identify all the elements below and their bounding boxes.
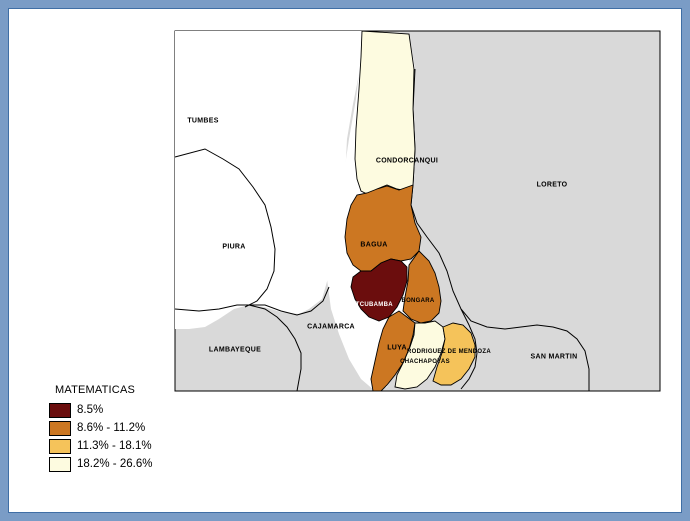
map-label-cajamarca: CAJAMARCA	[307, 324, 355, 331]
legend-item: 8.6% - 11.2%	[49, 419, 199, 437]
legend-swatch-class-2	[49, 421, 71, 436]
map-label-piura: PIURA	[222, 244, 245, 251]
map-label-lambayeque: LAMBAYEQUE	[209, 347, 261, 354]
legend-label-class-2: 8.6% - 11.2%	[77, 422, 145, 434]
map-label-chachapoyas: CHACHAPOYAS	[400, 359, 450, 365]
legend-item: 8.5%	[49, 401, 199, 419]
legend-label-class-3: 11.3% - 18.1%	[77, 440, 152, 452]
legend-swatch-class-4	[49, 457, 71, 472]
map-panel: TUMBES CONDORCANQUI LORETO PIURA BAGUA U…	[8, 8, 682, 513]
legend-swatch-class-3	[49, 439, 71, 454]
legend: MATEMATICAS 8.5% 8.6% - 11.2% 11.3% - 18…	[49, 384, 199, 473]
map-label-condorcanqui: CONDORCANQUI	[376, 158, 438, 165]
legend-item: 11.3% - 18.1%	[49, 437, 199, 455]
legend-item: 18.2% - 26.6%	[49, 455, 199, 473]
legend-title: MATEMATICAS	[55, 384, 199, 396]
map-label-rodriguez-de-mendoza: RODRIGUEZ DE MENDOZA	[407, 349, 491, 355]
map-label-tumbes: TUMBES	[187, 118, 218, 125]
province-bagua	[345, 185, 421, 271]
legend-swatch-class-1	[49, 403, 71, 418]
map-label-san-martin: SAN MARTIN	[531, 354, 578, 361]
map-label-loreto: LORETO	[537, 182, 568, 189]
legend-label-class-4: 18.2% - 26.6%	[77, 458, 152, 470]
map-label-bagua: BAGUA	[360, 242, 387, 249]
province-condorcanqui	[355, 31, 415, 195]
map-label-luya: LUYA	[387, 345, 407, 352]
map-label-utcubamba: UTCUBAMBA	[351, 302, 393, 308]
map-label-bongara: BONGARA	[401, 298, 434, 304]
legend-label-class-1: 8.5%	[77, 404, 103, 416]
